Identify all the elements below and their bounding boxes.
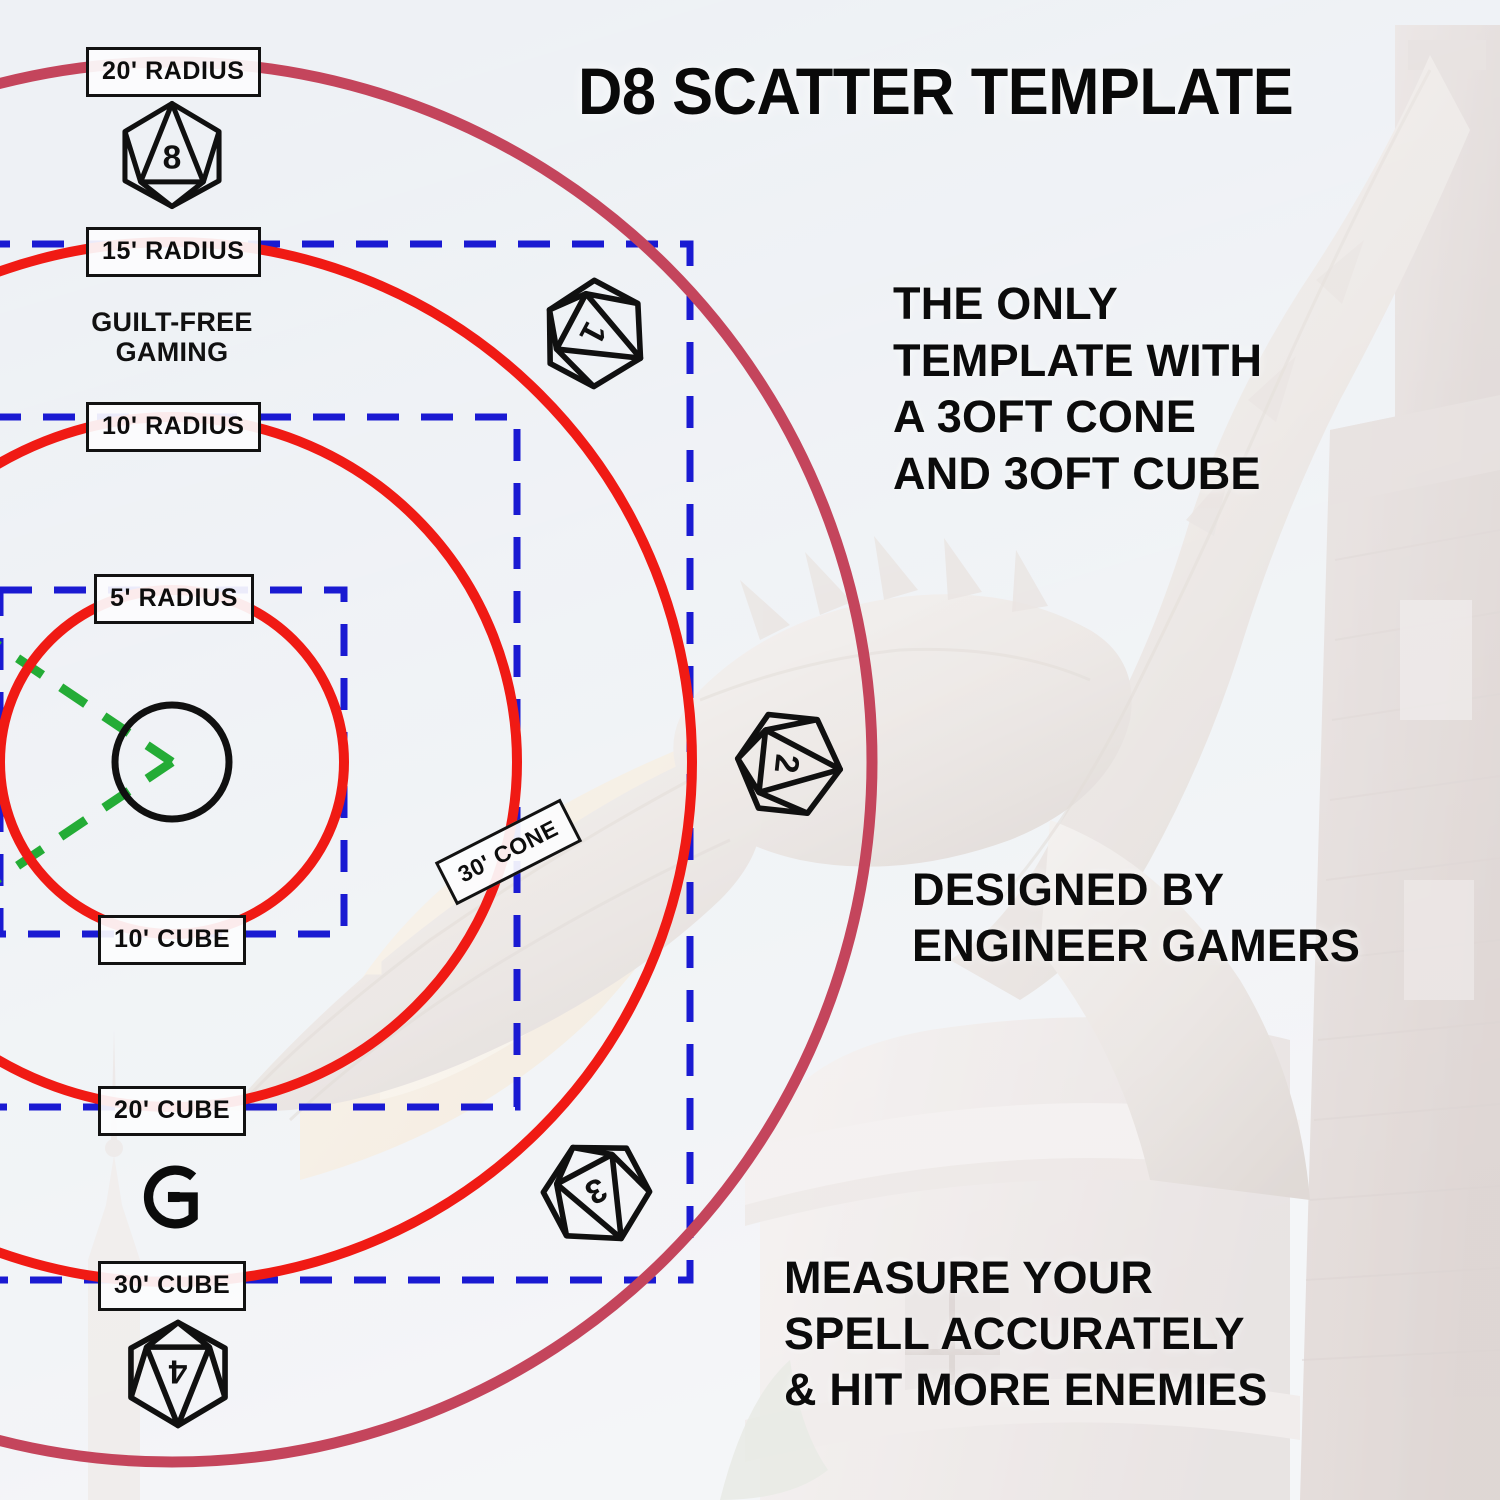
brand-tagline: GUILT-FREE GAMING [22,307,322,367]
label-cube-10ft: 10' CUBE [98,915,246,965]
die-face-value: 8 [163,139,182,176]
label-radius-5ft: 5' RADIUS [94,574,254,624]
die-d20-marker-4: 4 [122,1318,234,1430]
cone-30ft-outline [0,410,172,1114]
label-radius-10ft: 10' RADIUS [86,402,261,452]
feature-copy: THE ONLY TEMPLATE WITH A 3OFT CONE AND 3… [893,276,1262,503]
die-d20-marker-2: 2 [727,702,850,825]
benefit-copy: MEASURE YOUR SPELL ACCURATELY & HIT MORE… [784,1250,1268,1417]
g-monogram-logo [131,1155,215,1239]
page-title: D8 SCATTER TEMPLATE [578,58,1293,124]
label-radius-15ft: 15' RADIUS [86,227,261,277]
die-face-value: 4 [168,1353,187,1390]
designer-copy: DESIGNED BY ENGINEER GAMERS [912,862,1360,974]
radius-10ft-circle [0,417,517,1107]
label-radius-20ft: 20' RADIUS [86,47,261,97]
cube-20ft-outline [0,417,517,1107]
label-cube-20ft: 20' CUBE [98,1086,246,1136]
die-d20-marker-8: 8 [116,99,228,211]
die-face-value: 2 [767,752,806,774]
label-cube-30ft: 30' CUBE [98,1261,246,1311]
product-image: 8 1 2 3 [0,0,1500,1500]
